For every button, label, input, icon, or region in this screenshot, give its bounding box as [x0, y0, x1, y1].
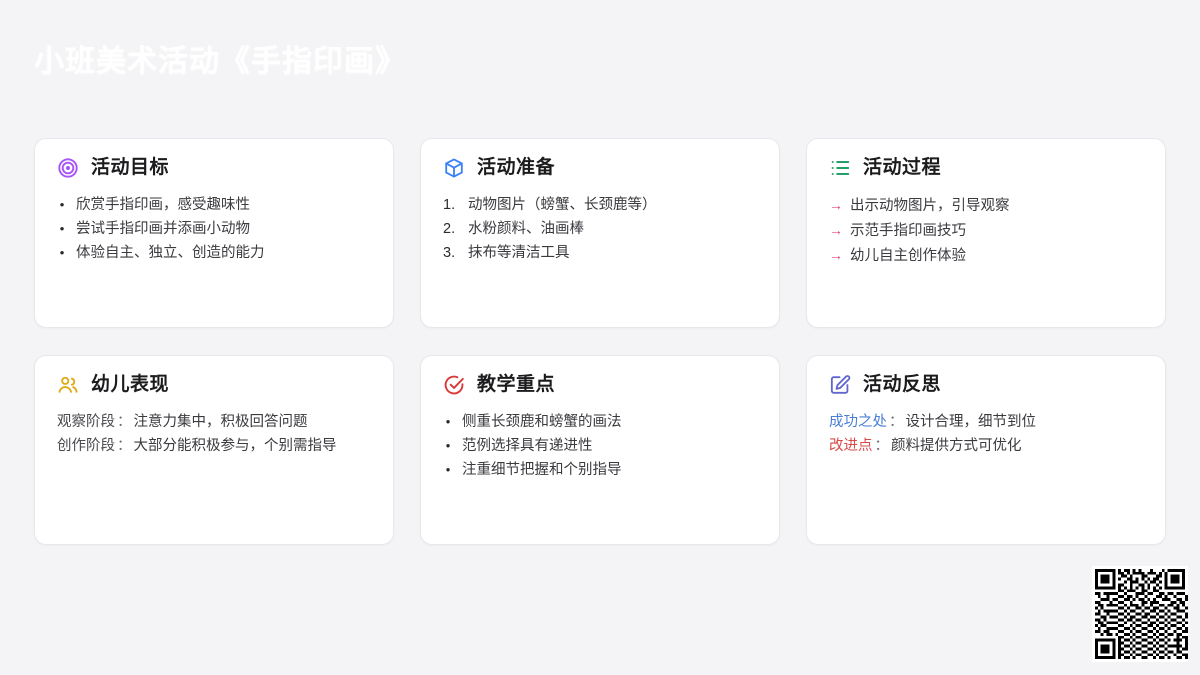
kv-label: 观察阶段: [57, 414, 115, 430]
performance-pairs: 观察阶段：注意力集中，积极回答问题 创作阶段：大部分能积极参与，个别需指导: [57, 410, 371, 458]
square-pen-icon: [829, 374, 851, 396]
card-header: 活动目标: [57, 157, 371, 179]
key-value-row: 观察阶段：注意力集中，积极回答问题: [57, 410, 371, 434]
list-number: 2.: [443, 217, 459, 241]
list-item-text: 侧重长颈鹿和螃蟹的画法: [462, 410, 757, 434]
card-title: 幼儿表现: [91, 375, 169, 396]
process-list: → 出示动物图片，引导观察 → 示范手指印画技巧 → 幼儿自主创作体验: [829, 193, 1143, 268]
kv-label-success: 成功之处: [829, 414, 887, 430]
kv-separator: ：: [887, 414, 906, 430]
list-item-text: 范例选择具有递进性: [462, 434, 757, 458]
card-preparation: 活动准备 1. 动物图片（螃蟹、长颈鹿等） 2. 水粉颜料、油画棒 3. 抹布等…: [420, 138, 780, 328]
card-title: 活动准备: [477, 158, 555, 179]
bullet-icon: •: [57, 193, 67, 217]
kv-value: 设计合理，细节到位: [906, 414, 1037, 430]
card-header: 教学重点: [443, 374, 757, 396]
kv-separator: ：: [873, 438, 892, 454]
card-header: 幼儿表现: [57, 374, 371, 396]
reflection-pairs: 成功之处：设计合理，细节到位 改进点：颜料提供方式可优化: [829, 410, 1143, 458]
list-item: • 尝试手指印画并添画小动物: [57, 217, 371, 241]
bullet-icon: •: [443, 410, 453, 434]
list-item: 1. 动物图片（螃蟹、长颈鹿等）: [443, 193, 757, 217]
card-performance: 幼儿表现 观察阶段：注意力集中，积极回答问题 创作阶段：大部分能积极参与，个别需…: [34, 355, 394, 545]
arrow-right-icon: →: [829, 218, 841, 242]
list-item: • 体验自主、独立、创造的能力: [57, 241, 371, 265]
list-item: • 注重细节把握和个别指导: [443, 458, 757, 482]
list-number: 1.: [443, 193, 459, 217]
list-item-text: 欣赏手指印画，感受趣味性: [76, 193, 371, 217]
list-item-text: 水粉颜料、油画棒: [468, 217, 757, 241]
key-value-row: 成功之处：设计合理，细节到位: [829, 410, 1143, 434]
arrow-right-icon: →: [829, 193, 841, 217]
card-title: 活动目标: [91, 158, 169, 179]
objectives-list: • 欣赏手指印画，感受趣味性 • 尝试手指印画并添画小动物 • 体验自主、独立、…: [57, 193, 371, 265]
list-item-text: 出示动物图片，引导观察: [850, 194, 1143, 218]
list-item-text: 示范手指印画技巧: [850, 219, 1143, 243]
circle-check-icon: [443, 374, 465, 396]
list-number: 3.: [443, 241, 459, 265]
kv-value: 颜料提供方式可优化: [891, 438, 1022, 454]
kv-separator: ：: [115, 438, 134, 454]
card-title: 活动过程: [863, 158, 941, 179]
bullet-icon: •: [57, 241, 67, 265]
list-item-text: 动物图片（螃蟹、长颈鹿等）: [468, 193, 757, 217]
bullet-icon: •: [443, 458, 453, 482]
card-title: 活动反思: [863, 375, 941, 396]
preparation-list: 1. 动物图片（螃蟹、长颈鹿等） 2. 水粉颜料、油画棒 3. 抹布等清洁工具: [443, 193, 757, 265]
teaching-focus-list: • 侧重长颈鹿和螃蟹的画法 • 范例选择具有递进性 • 注重细节把握和个别指导: [443, 410, 757, 482]
list-icon: [829, 157, 851, 179]
qr-code[interactable]: [1092, 566, 1188, 662]
kv-label-improvement: 改进点: [829, 438, 873, 454]
list-item: 3. 抹布等清洁工具: [443, 241, 757, 265]
card-process: 活动过程 → 出示动物图片，引导观察 → 示范手指印画技巧 → 幼儿自主创作体验: [806, 138, 1166, 328]
bullet-icon: •: [57, 217, 67, 241]
users-icon: [57, 374, 79, 396]
list-item-text: 注重细节把握和个别指导: [462, 458, 757, 482]
list-item: • 欣赏手指印画，感受趣味性: [57, 193, 371, 217]
target-icon: [57, 157, 79, 179]
card-objectives: 活动目标 • 欣赏手指印画，感受趣味性 • 尝试手指印画并添画小动物 • 体验自…: [34, 138, 394, 328]
key-value-row: 创作阶段：大部分能积极参与，个别需指导: [57, 434, 371, 458]
kv-value: 注意力集中，积极回答问题: [134, 414, 308, 430]
qr-code-image: [1092, 566, 1188, 662]
page-title: 小班美术活动《手指印画》: [34, 36, 406, 80]
list-item-text: 抹布等清洁工具: [468, 241, 757, 265]
bullet-icon: •: [443, 434, 453, 458]
kv-label: 创作阶段: [57, 438, 115, 454]
card-title: 教学重点: [477, 375, 555, 396]
kv-separator: ：: [115, 414, 134, 430]
arrow-right-icon: →: [829, 243, 841, 267]
list-item: • 侧重长颈鹿和螃蟹的画法: [443, 410, 757, 434]
list-item: → 示范手指印画技巧: [829, 218, 1143, 243]
list-item: 2. 水粉颜料、油画棒: [443, 217, 757, 241]
kv-value: 大部分能积极参与，个别需指导: [134, 438, 337, 454]
card-header: 活动反思: [829, 374, 1143, 396]
card-header: 活动准备: [443, 157, 757, 179]
list-item-text: 体验自主、独立、创造的能力: [76, 241, 371, 265]
key-value-row: 改进点：颜料提供方式可优化: [829, 434, 1143, 458]
list-item: → 幼儿自主创作体验: [829, 243, 1143, 268]
list-item-text: 尝试手指印画并添画小动物: [76, 217, 371, 241]
card-teaching-focus: 教学重点 • 侧重长颈鹿和螃蟹的画法 • 范例选择具有递进性 • 注重细节把握和…: [420, 355, 780, 545]
package-box-icon: [443, 157, 465, 179]
card-reflection: 活动反思 成功之处：设计合理，细节到位 改进点：颜料提供方式可优化: [806, 355, 1166, 545]
list-item: • 范例选择具有递进性: [443, 434, 757, 458]
card-grid: 活动目标 • 欣赏手指印画，感受趣味性 • 尝试手指印画并添画小动物 • 体验自…: [34, 138, 1166, 545]
list-item: → 出示动物图片，引导观察: [829, 193, 1143, 218]
list-item-text: 幼儿自主创作体验: [850, 244, 1143, 268]
card-header: 活动过程: [829, 157, 1143, 179]
